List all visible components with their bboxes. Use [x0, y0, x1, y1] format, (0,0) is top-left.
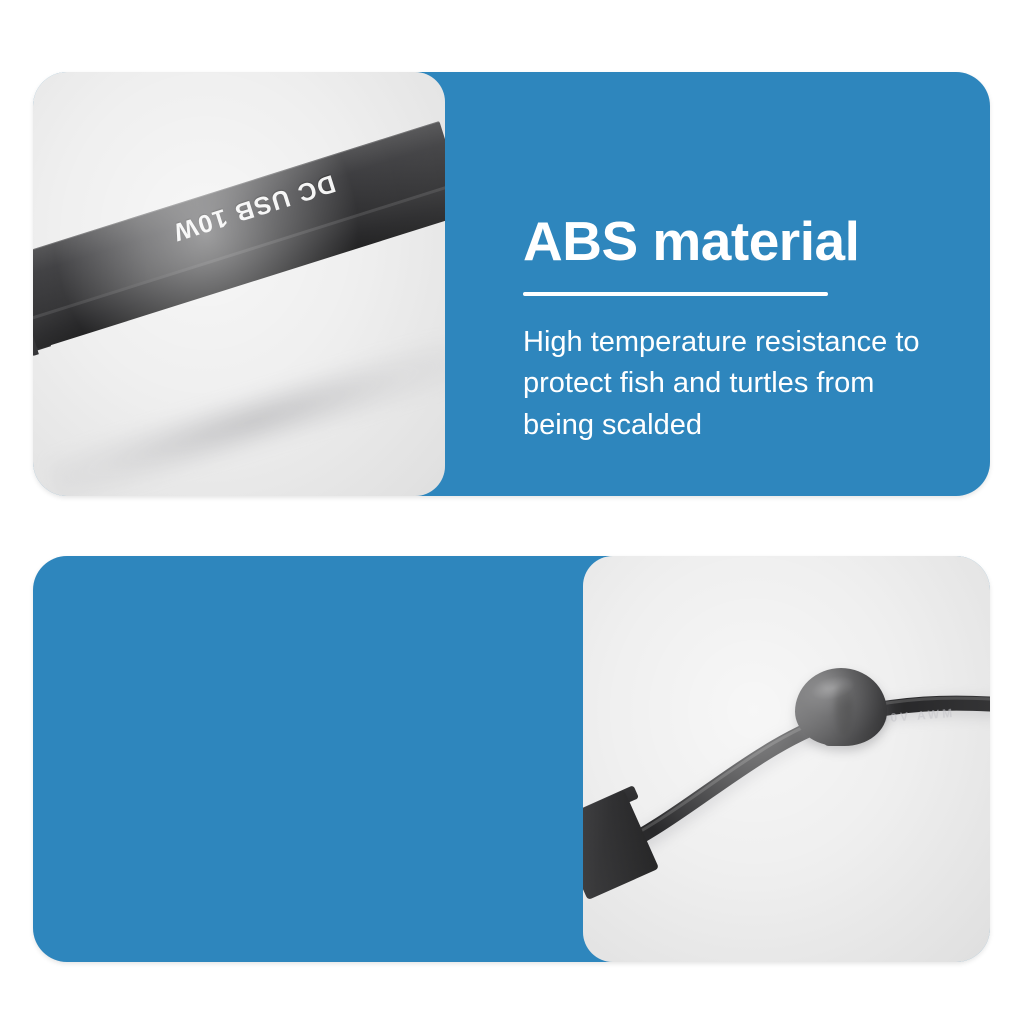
panel-body-text: High temperature resistance to protect f…: [523, 322, 990, 446]
body-line: High temperature resistance to: [523, 322, 990, 363]
panel-headline: ABS material: [523, 212, 990, 270]
suction-cup-product: 300V AWM: [583, 556, 990, 962]
feature-text-abs-material: ABS material High temperature resistance…: [523, 212, 990, 446]
product-photo-suction-cup: 300V AWM: [583, 556, 990, 962]
body-line: protect fish and turtles from: [523, 363, 990, 404]
infographic-canvas: DC USB 10W ABS material High temperature…: [0, 0, 1024, 1024]
suction-cup-dome: [795, 668, 887, 746]
power-cable: [583, 556, 990, 962]
headline-underline-rule: [523, 292, 828, 296]
product-photo-heater-bar: DC USB 10W: [33, 72, 445, 496]
feature-panel-abs-material: DC USB 10W ABS material High temperature…: [33, 72, 990, 496]
body-line: being scalded: [523, 405, 990, 446]
feature-panel-strong-suction-cup: Strong suction cup Stable adsorption of …: [33, 556, 990, 962]
